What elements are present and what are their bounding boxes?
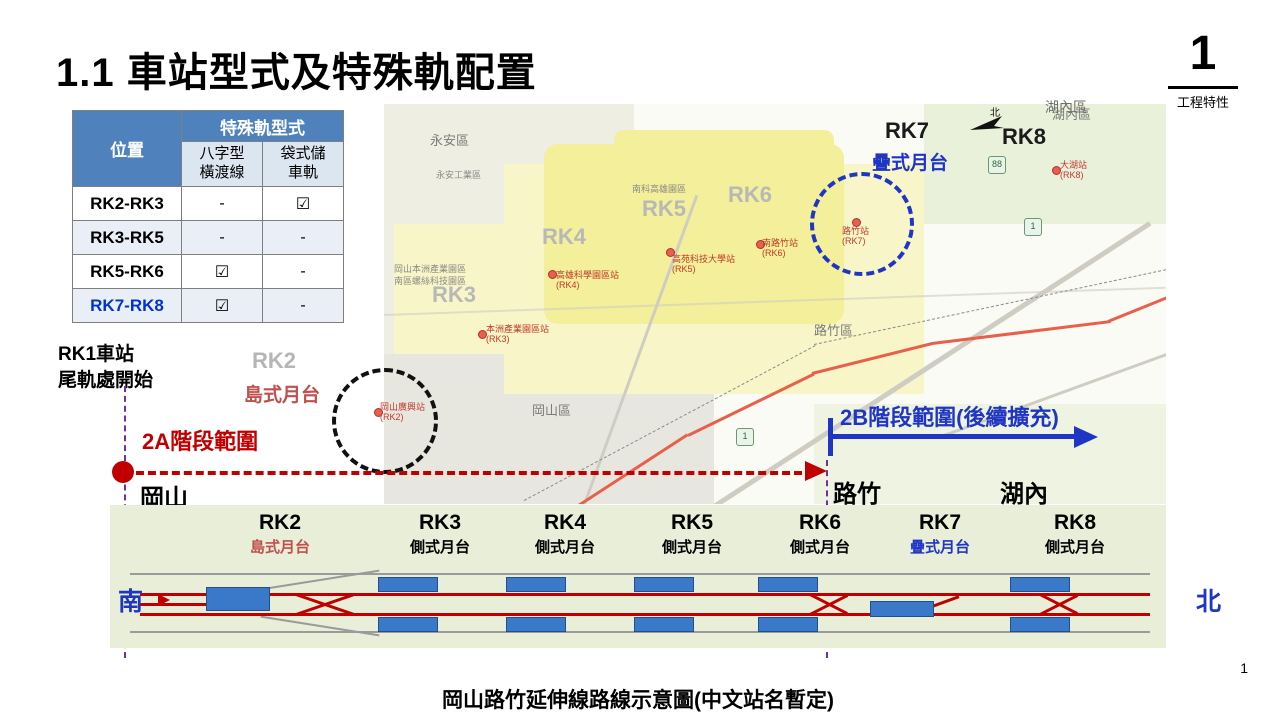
map-zone-rk3: RK3 xyxy=(432,282,476,308)
stage-2a-arrow-head xyxy=(805,461,827,481)
highway-shield-88: 88 xyxy=(988,156,1006,174)
table-cell-pocket: - xyxy=(263,289,344,323)
schematic-station-type: 側式月台 xyxy=(370,536,510,557)
table-row-label: RK5-RK6 xyxy=(73,255,182,289)
route-map: 88 1 1 xyxy=(384,104,1166,504)
subheader-pocket-line1: 袋式儲 xyxy=(280,145,325,162)
schematic-station-name: RK6 xyxy=(750,511,890,535)
map-zone-rk4: RK4 xyxy=(542,224,586,250)
compass-label: 北 xyxy=(990,104,1000,119)
schematic-corridor-taper-2 xyxy=(261,616,380,636)
station-label-rk4: 高雄科學園區站(RK4) xyxy=(556,270,619,291)
schematic-station-name: RK4 xyxy=(495,511,635,535)
schematic-station-name: RK8 xyxy=(1005,511,1145,535)
table-cell-pocket: - xyxy=(263,255,344,289)
chapter-label: 工程特性 xyxy=(1160,92,1246,111)
chapter-number: 1 xyxy=(1168,30,1238,78)
schematic-station-rk7: RK7 疊式月台 xyxy=(870,511,1010,557)
platform-rk3-up xyxy=(378,577,438,592)
schematic-station-type: 側式月台 xyxy=(750,536,890,557)
figure-caption: 岡山路竹延伸線路線示意圖(中文站名暫定) xyxy=(0,684,1276,714)
highlight-circle-rk7 xyxy=(810,172,914,276)
table-cell-crossover: - xyxy=(182,187,263,221)
table-subheader-crossover: 八字型 橫渡線 xyxy=(182,142,263,187)
station-label-rk6: 南路竹站(RK6) xyxy=(762,238,798,259)
schematic-station-name: RK7 xyxy=(870,511,1010,535)
city-label-luzhu: 路竹 xyxy=(833,474,881,509)
line-schematic: RK2 島式月台 RK3 側式月台 RK4 側式月台 RK5 側式月台 RK6 … xyxy=(110,505,1166,648)
schematic-station-name: RK5 xyxy=(622,511,762,535)
map-label-nanke: 南科高雄園區 xyxy=(632,182,686,195)
callout-rk8: RK8 xyxy=(1002,124,1046,150)
rk1-note-line1: RK1車站 xyxy=(58,344,134,365)
map-zone-rk6: RK6 xyxy=(728,182,772,208)
map-label-gangshan-district: 岡山區 xyxy=(532,400,571,419)
table-row-label: RK7-RK8 xyxy=(73,289,182,323)
platform-rk5-down xyxy=(634,617,694,632)
platform-rk2-island xyxy=(206,587,270,611)
schematic-station-rk2: RK2 島式月台 xyxy=(210,511,350,557)
city-label-hunei: 湖內 xyxy=(1000,474,1048,509)
platform-rk4-down xyxy=(506,617,566,632)
table-row: RK3-RK5 - - xyxy=(73,221,344,255)
table-header-location: 位置 xyxy=(73,111,182,187)
stage-2b-label: 2B階段範圍(後續擴充) xyxy=(840,400,1059,432)
stage-2b-arrow-line xyxy=(830,434,1078,439)
direction-label-south: 南 xyxy=(118,582,143,618)
map-label-yongan-industrial: 永安工業區 xyxy=(436,168,481,181)
schematic-station-rk6: RK6 側式月台 xyxy=(750,511,890,557)
track-down-line xyxy=(140,613,1150,616)
table-row-label: RK3-RK5 xyxy=(73,221,182,255)
table-cell-pocket: ☑ xyxy=(263,187,344,221)
schematic-station-type: 側式月台 xyxy=(495,536,635,557)
subheader-crossover-line1: 八字型 xyxy=(199,145,244,162)
stage-2a-arrow-line xyxy=(124,471,814,475)
label-hunei-district-top: 湖內區 xyxy=(1045,97,1087,117)
station-label-rk3: 本洲產業園區站(RK3) xyxy=(486,324,549,345)
subheader-crossover-line2: 橫渡線 xyxy=(199,164,244,181)
map-zone-rk5: RK5 xyxy=(642,196,686,222)
map-label-luzhu-district: 路竹區 xyxy=(814,320,853,339)
platform-rk4-up xyxy=(506,577,566,592)
track-up-line xyxy=(140,593,1150,596)
schematic-station-type: 側式月台 xyxy=(1005,536,1145,557)
map-rk2-platform-type: 島式月台 xyxy=(244,380,320,407)
table-row-label: RK2-RK3 xyxy=(73,187,182,221)
station-label-rk5: 高苑科技大學站(RK5) xyxy=(672,254,735,275)
schematic-station-type: 疊式月台 xyxy=(870,536,1010,557)
table-cell-pocket: - xyxy=(263,221,344,255)
rk1-note-line2: 尾軌處開始 xyxy=(58,370,153,391)
stage-2b-arrow-head xyxy=(1074,426,1098,448)
platform-rk5-up xyxy=(634,577,694,592)
platform-rk8-down xyxy=(1010,617,1070,632)
table-row: RK7-RK8 ☑ - xyxy=(73,289,344,323)
station-label-rk8: 大湖站(RK8) xyxy=(1060,160,1087,181)
platform-rk6-down xyxy=(758,617,818,632)
map-zone-rk2: RK2 xyxy=(252,348,296,374)
subheader-pocket-line2: 車軌 xyxy=(288,164,318,181)
direction-arrow-south xyxy=(158,594,170,606)
schematic-station-name: RK3 xyxy=(370,511,510,535)
slide-canvas: 1.1 車站型式及特殊軌配置 1 工程特性 88 1 1 xyxy=(0,0,1276,720)
table-cell-crossover: - xyxy=(182,221,263,255)
special-track-table: 位置 特殊軌型式 八字型 橫渡線 袋式儲 車軌 RK2-RK3 - ☑ RK3-… xyxy=(72,110,344,323)
schematic-station-type: 側式月台 xyxy=(622,536,762,557)
table-row: RK5-RK6 ☑ - xyxy=(73,255,344,289)
table-row: RK2-RK3 - ☑ xyxy=(73,187,344,221)
platform-rk6-up xyxy=(758,577,818,592)
stage-2a-label: 2A階段範圍 xyxy=(142,424,258,456)
highway-shield-1b: 1 xyxy=(736,428,754,446)
schematic-station-rk3: RK3 側式月台 xyxy=(370,511,510,557)
highway-shield-1a: 1 xyxy=(1024,218,1042,236)
page-title: 1.1 車站型式及特殊軌配置 xyxy=(56,40,537,98)
schematic-station-type: 島式月台 xyxy=(210,536,350,557)
table-subheader-pocket: 袋式儲 車軌 xyxy=(263,142,344,187)
callout-rk7-platform: 疊式月台 xyxy=(872,148,948,175)
highlight-circle-rk2 xyxy=(332,368,438,474)
platform-rk3-down xyxy=(378,617,438,632)
table-cell-crossover: ☑ xyxy=(182,289,263,323)
chapter-divider xyxy=(1168,86,1238,89)
schematic-station-rk4: RK4 側式月台 xyxy=(495,511,635,557)
map-label-yongan: 永安區 xyxy=(430,130,469,149)
direction-label-north: 北 xyxy=(1196,582,1221,618)
schematic-corridor-top xyxy=(130,573,1150,575)
callout-rk1-note: RK1車站 尾軌處開始 xyxy=(58,342,153,393)
page-number: 1 xyxy=(1240,660,1248,676)
map-region-northeast xyxy=(924,104,1166,224)
table-cell-crossover: ☑ xyxy=(182,255,263,289)
callout-rk7: RK7 xyxy=(885,118,929,144)
platform-rk7-stacked xyxy=(870,601,934,617)
schematic-station-rk5: RK5 側式月台 xyxy=(622,511,762,557)
table-header-special-track: 特殊軌型式 xyxy=(182,111,344,142)
schematic-station-rk8: RK8 側式月台 xyxy=(1005,511,1145,557)
schematic-station-name: RK2 xyxy=(210,511,350,535)
platform-rk8-up xyxy=(1010,577,1070,592)
